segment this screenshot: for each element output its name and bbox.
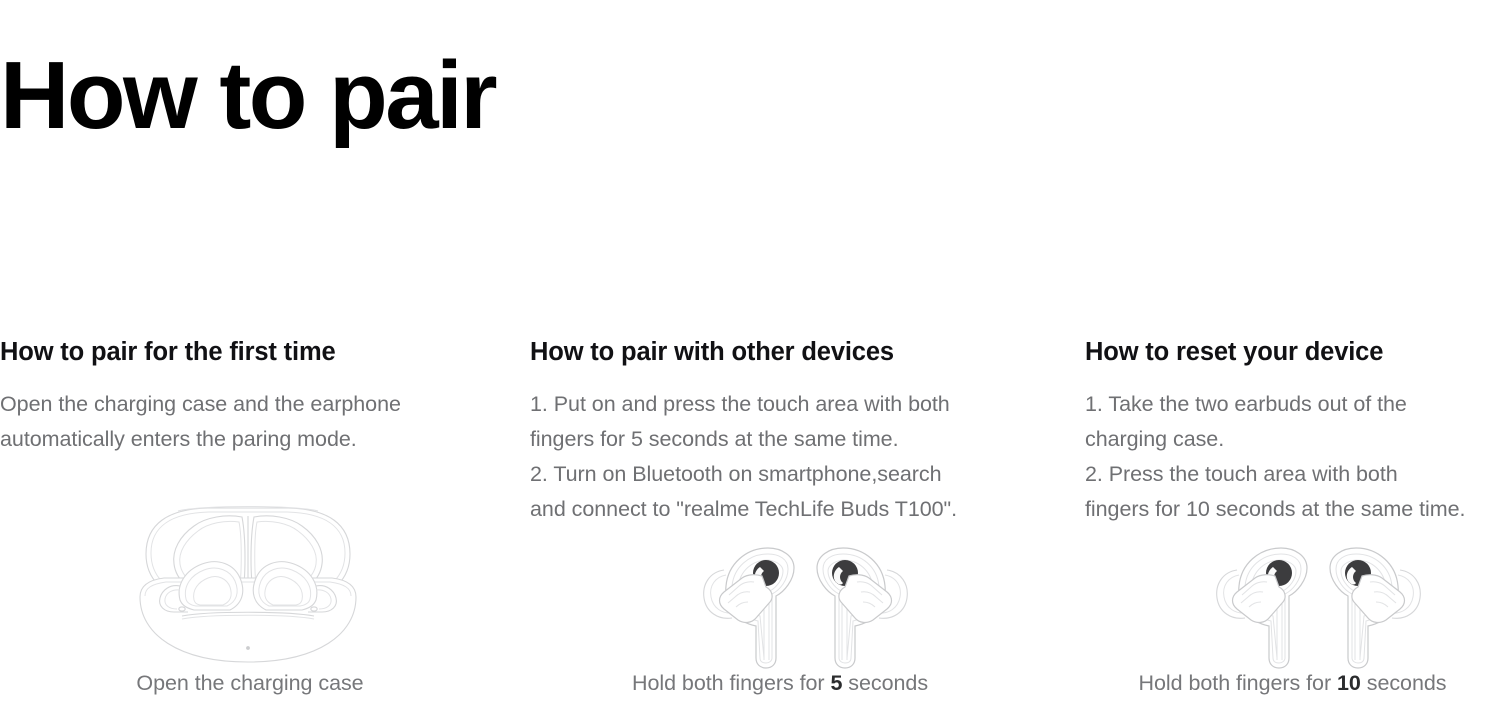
column-body: Open the charging case and the earphone … bbox=[0, 387, 500, 457]
body-line: fingers for 10 seconds at the same time. bbox=[1085, 492, 1500, 527]
body-line: and connect to "realme TechLife Buds T10… bbox=[530, 492, 1030, 527]
caption-strong: 10 bbox=[1337, 671, 1361, 695]
column-heading: How to pair for the first time bbox=[0, 338, 500, 367]
column-other-devices: How to pair with other devices 1. Put on… bbox=[530, 338, 1030, 702]
column-heading: How to pair with other devices bbox=[530, 338, 1030, 367]
column-heading: How to reset your device bbox=[1085, 338, 1500, 367]
caption-suffix: seconds bbox=[1361, 671, 1447, 695]
body-line: 2. Press the touch area with both bbox=[1085, 457, 1500, 492]
illustration-caption: Hold both fingers for 10 seconds bbox=[1085, 671, 1500, 696]
column-body: 1. Take the two earbuds out of the charg… bbox=[1085, 387, 1500, 527]
illustration-caption: Hold both fingers for 5 seconds bbox=[530, 671, 1030, 696]
body-line: fingers for 5 seconds at the same time. bbox=[530, 422, 1030, 457]
body-line: Open the charging case and the earphone bbox=[0, 387, 500, 422]
column-first-time: How to pair for the first time Open the … bbox=[0, 338, 500, 702]
body-line: 1. Put on and press the touch area with … bbox=[530, 387, 1030, 422]
caption-prefix: Open the charging case bbox=[136, 671, 363, 695]
caption-prefix: Hold both fingers for bbox=[632, 671, 830, 695]
illustration-caption: Open the charging case bbox=[0, 671, 500, 696]
body-line: 1. Take the two earbuds out of the bbox=[1085, 387, 1500, 422]
column-reset-device: How to reset your device 1. Take the two… bbox=[1085, 338, 1500, 702]
body-line: charging case. bbox=[1085, 422, 1500, 457]
body-line: 2. Turn on Bluetooth on smartphone,searc… bbox=[530, 457, 1030, 492]
caption-prefix: Hold both fingers for bbox=[1139, 671, 1337, 695]
charging-case-illustration bbox=[0, 500, 500, 670]
earbuds-illustration bbox=[1085, 540, 1500, 670]
earbuds-illustration bbox=[530, 540, 1030, 670]
body-line: automatically enters the paring mode. bbox=[0, 422, 500, 457]
page-title: How to pair bbox=[0, 48, 495, 144]
caption-strong: 5 bbox=[830, 671, 842, 695]
pairing-columns: How to pair for the first time Open the … bbox=[0, 338, 1500, 702]
column-body: 1. Put on and press the touch area with … bbox=[530, 387, 1030, 527]
caption-suffix: seconds bbox=[842, 671, 928, 695]
